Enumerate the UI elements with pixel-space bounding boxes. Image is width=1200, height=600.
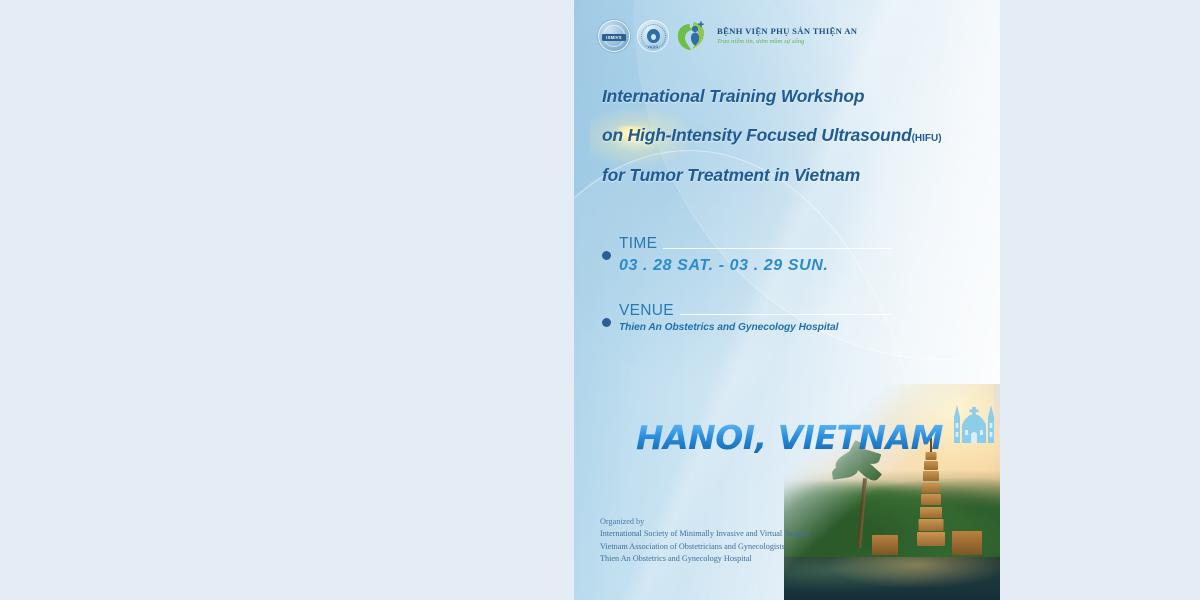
photo-building-left [872, 535, 898, 555]
organizer-item: International Society of Minimally Invas… [600, 528, 810, 540]
hospital-text-block: BỆNH VIỆN PHỤ SẢN THIỆN AN Trao niềm tin… [717, 27, 857, 45]
title-line-2-text: on High-Intensity Focused Ultrasound [602, 125, 912, 145]
title-line-1: International Training Workshop [602, 88, 982, 105]
venue-label: VENUE [619, 303, 674, 319]
organizer-item: Thien An Obstetrics and Gynecology Hospi… [600, 553, 810, 565]
photo-lake [784, 557, 1000, 600]
thien-an-hospital-logo [676, 20, 706, 52]
photo-pagoda [916, 444, 946, 552]
photo-building-right [952, 531, 982, 555]
ismivs-logo-label: ISMIVS [606, 35, 622, 40]
venue-divider [680, 314, 892, 315]
title-line-2: on High-Intensity Focused Ultrasound(HIF… [602, 127, 982, 144]
organizers-block: Organized by International Society of Mi… [600, 516, 810, 566]
event-details: TIME 03 . 28 SAT. - 03 . 29 SUN. VENUE T… [602, 236, 892, 333]
title-hifu-abbrev: (HIFU) [912, 133, 942, 144]
time-bullet-icon [602, 251, 611, 260]
venue-row: VENUE Thien An Obstetrics and Gynecology… [602, 303, 892, 334]
event-poster: ISMIVS VAGO BỆNH VIỆN PHỤ SẢN THIỆN AN T… [574, 0, 1000, 600]
vago-logo: VAGO [637, 20, 669, 52]
time-row: TIME 03 . 28 SAT. - 03 . 29 SUN. [602, 236, 892, 275]
city-name: HANOI, VIETNAM [636, 423, 943, 453]
poster-title: International Training Workshop on High-… [602, 88, 982, 184]
title-line-3: for Tumor Treatment in Vietnam [602, 167, 982, 184]
hospital-name: BỆNH VIỆN PHỤ SẢN THIỆN AN [717, 27, 857, 37]
time-value: 03 . 28 SAT. - 03 . 29 SUN. [619, 257, 892, 275]
hospital-tagline: Trao niềm tin, ươm mầm sự sống [717, 38, 857, 45]
venue-value: Thien An Obstetrics and Gynecology Hospi… [619, 322, 892, 333]
venue-bullet-icon [602, 318, 611, 327]
organizers-heading: Organized by [600, 516, 810, 528]
time-label: TIME [619, 236, 657, 252]
vago-logo-label: VAGO [638, 45, 668, 49]
logo-bar: ISMIVS VAGO BỆNH VIỆN PHỤ SẢN THIỆN AN T… [598, 20, 857, 52]
ismivs-logo: ISMIVS [598, 20, 630, 52]
organizer-item: Vietnam Association of Obstetricians and… [600, 541, 810, 553]
cathedral-icon [951, 403, 997, 450]
time-divider [663, 248, 892, 249]
city-banner: HANOI, VIETNAM [636, 403, 997, 453]
photo-palm-tree [836, 452, 882, 548]
